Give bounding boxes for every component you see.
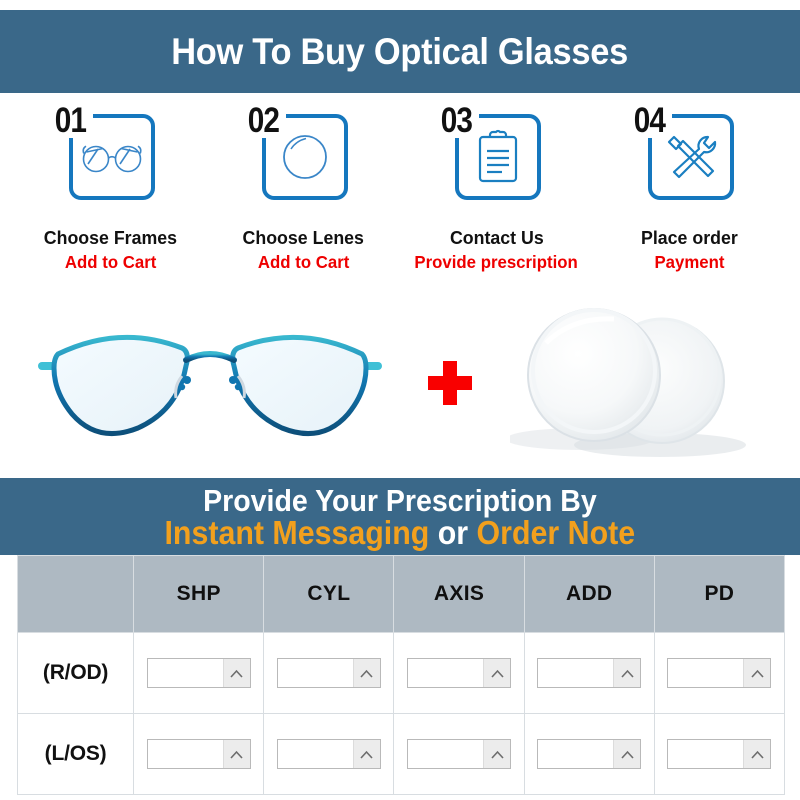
- cell-r-axis[interactable]: [394, 633, 524, 714]
- glasses-photo: [0, 288, 420, 478]
- step-03-icon-wrap: 03: [441, 105, 553, 205]
- input-l-axis-field[interactable]: [408, 740, 483, 768]
- step-01: 01: [14, 93, 207, 288]
- chevron-up-icon[interactable]: [613, 659, 640, 687]
- step-02-number: 02: [246, 101, 282, 138]
- col-header-add: ADD: [524, 556, 654, 633]
- step-04-label: Place order: [641, 227, 738, 249]
- input-l-pd[interactable]: [667, 739, 771, 769]
- col-header-cyl: CYL: [264, 556, 394, 633]
- step-01-icon-wrap: 01: [55, 105, 167, 205]
- step-04-number: 04: [632, 101, 668, 138]
- col-header-blank: [18, 556, 134, 633]
- input-r-pd-field[interactable]: [668, 659, 743, 687]
- step-03-sub: Provide prescription: [415, 252, 578, 273]
- product-row: [0, 288, 800, 478]
- step-04: 04 Place order Payment: [593, 93, 786, 288]
- cell-r-shp[interactable]: [134, 633, 264, 714]
- steps-row: 01: [0, 93, 800, 288]
- header-banner: How To Buy Optical Glasses: [0, 10, 800, 93]
- input-l-axis[interactable]: [407, 739, 511, 769]
- input-l-shp-field[interactable]: [148, 740, 223, 768]
- chevron-up-icon[interactable]: [223, 659, 250, 687]
- cell-l-add[interactable]: [524, 714, 654, 795]
- prescription-banner-line1: Provide Your Prescription By: [203, 485, 597, 517]
- input-l-cyl-field[interactable]: [278, 740, 353, 768]
- step-02-icon-wrap: 02: [248, 105, 360, 205]
- step-01-number: 01: [53, 101, 89, 138]
- row-label-cell-right-eye: (R/OD): [18, 633, 134, 714]
- col-header-pd: PD: [654, 556, 784, 633]
- chevron-up-icon[interactable]: [483, 659, 510, 687]
- input-r-axis[interactable]: [407, 658, 511, 688]
- lens-pair-photo: [480, 288, 800, 478]
- input-r-cyl[interactable]: [277, 658, 381, 688]
- step-03-label: Contact Us: [450, 227, 544, 249]
- input-r-cyl-field[interactable]: [278, 659, 353, 687]
- plus-separator: [420, 361, 480, 405]
- step-02-label: Choose Lenes: [243, 227, 364, 249]
- col-header-shp: SHP: [134, 556, 264, 633]
- cell-r-cyl[interactable]: [264, 633, 394, 714]
- row-label-cell-left-eye: (L/OS): [18, 714, 134, 795]
- input-l-cyl[interactable]: [277, 739, 381, 769]
- cell-r-pd[interactable]: [654, 633, 784, 714]
- cell-l-axis[interactable]: [394, 714, 524, 795]
- input-r-shp-field[interactable]: [148, 659, 223, 687]
- input-l-add-field[interactable]: [538, 740, 613, 768]
- step-02-sub: Add to Cart: [258, 252, 349, 273]
- step-04-icon-wrap: 04: [634, 105, 746, 205]
- chevron-up-icon[interactable]: [223, 740, 250, 768]
- cell-l-pd[interactable]: [654, 714, 784, 795]
- cell-r-add[interactable]: [524, 633, 654, 714]
- cell-l-cyl[interactable]: [264, 714, 394, 795]
- instant-messaging-text: Instant Messaging: [165, 514, 430, 551]
- chevron-up-icon[interactable]: [483, 740, 510, 768]
- prescription-table: SHP CYL AXIS ADD PD (R/OD): [17, 555, 785, 795]
- chevron-up-icon[interactable]: [743, 740, 770, 768]
- chevron-up-icon[interactable]: [353, 659, 380, 687]
- prescription-banner: Provide Your Prescription By Instant Mes…: [0, 478, 800, 555]
- input-r-pd[interactable]: [667, 658, 771, 688]
- order-note-text: Order Note: [477, 514, 636, 551]
- cell-l-shp[interactable]: [134, 714, 264, 795]
- table-row: (R/OD): [18, 633, 785, 714]
- plus-icon: [428, 361, 472, 405]
- prescription-banner-line2: Instant Messaging or Order Note: [165, 516, 636, 550]
- input-r-shp[interactable]: [147, 658, 251, 688]
- chevron-up-icon[interactable]: [353, 740, 380, 768]
- step-03-number: 03: [439, 101, 475, 138]
- step-01-sub: Add to Cart: [65, 252, 156, 273]
- chevron-up-icon[interactable]: [743, 659, 770, 687]
- input-l-shp[interactable]: [147, 739, 251, 769]
- or-text: or: [430, 514, 477, 551]
- step-01-label: Choose Frames: [44, 227, 177, 249]
- table-header-row: SHP CYL AXIS ADD PD: [18, 556, 785, 633]
- row-label-l-os: (L/OS): [45, 742, 107, 765]
- input-l-pd-field[interactable]: [668, 740, 743, 768]
- col-header-axis: AXIS: [394, 556, 524, 633]
- infographic-page: How To Buy Optical Glasses 01: [0, 0, 800, 800]
- step-02: 02 Choose Lenes Add to Cart: [207, 93, 400, 288]
- page-title: How To Buy Optical Glasses: [172, 33, 629, 70]
- prescription-table-wrap: SHP CYL AXIS ADD PD (R/OD): [0, 555, 800, 795]
- step-03: 03 Contact Us Provide pre: [400, 93, 593, 288]
- input-r-add[interactable]: [537, 658, 641, 688]
- chevron-up-icon[interactable]: [613, 740, 640, 768]
- input-r-add-field[interactable]: [538, 659, 613, 687]
- input-r-axis-field[interactable]: [408, 659, 483, 687]
- table-row: (L/OS): [18, 714, 785, 795]
- row-label-r-od: (R/OD): [43, 661, 108, 684]
- input-l-add[interactable]: [537, 739, 641, 769]
- step-04-sub: Payment: [654, 252, 724, 273]
